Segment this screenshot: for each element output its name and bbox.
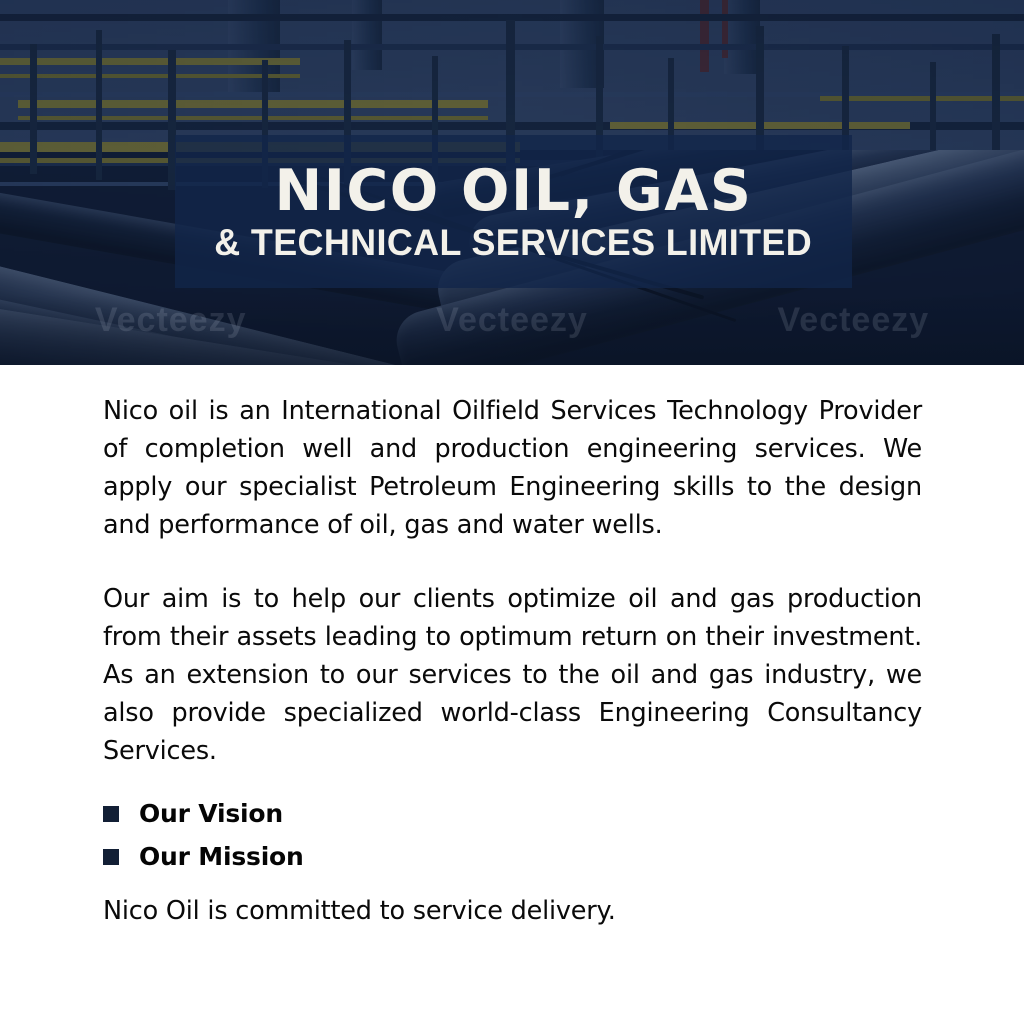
content-body: Nico oil is an International Oilfield Se… — [103, 392, 922, 930]
company-title-banner: NICO OIL, GAS & TECHNICAL SERVICES LIMIT… — [175, 135, 852, 288]
closing-statement: Nico Oil is committed to service deliver… — [103, 892, 922, 930]
page-subtitle: & TECHNICAL SERVICES LIMITED — [215, 224, 813, 261]
square-bullet-icon — [103, 849, 119, 865]
company-profile-page: Vecteezy Vecteezy Vecteezy NICO OIL, GAS… — [0, 0, 1024, 1024]
list-item[interactable]: Our Mission — [103, 835, 922, 878]
list-item[interactable]: Our Vision — [103, 792, 922, 835]
aim-paragraph: Our aim is to help our clients optimize … — [103, 580, 922, 770]
watermark-text-3: Vecteezy — [777, 301, 929, 340]
square-bullet-icon — [103, 806, 119, 822]
hero-banner: Vecteezy Vecteezy Vecteezy NICO OIL, GAS… — [0, 0, 1024, 365]
watermark-text-1: Vecteezy — [95, 301, 247, 340]
highlights-list: Our Vision Our Mission — [103, 792, 922, 878]
bullet-label-mission: Our Mission — [139, 842, 304, 871]
intro-paragraph: Nico oil is an International Oilfield Se… — [103, 392, 922, 544]
watermark-text-2: Vecteezy — [436, 301, 588, 340]
bullet-label-vision: Our Vision — [139, 799, 283, 828]
page-title: NICO OIL, GAS — [275, 163, 753, 220]
stock-watermark: Vecteezy Vecteezy Vecteezy — [0, 288, 1024, 352]
